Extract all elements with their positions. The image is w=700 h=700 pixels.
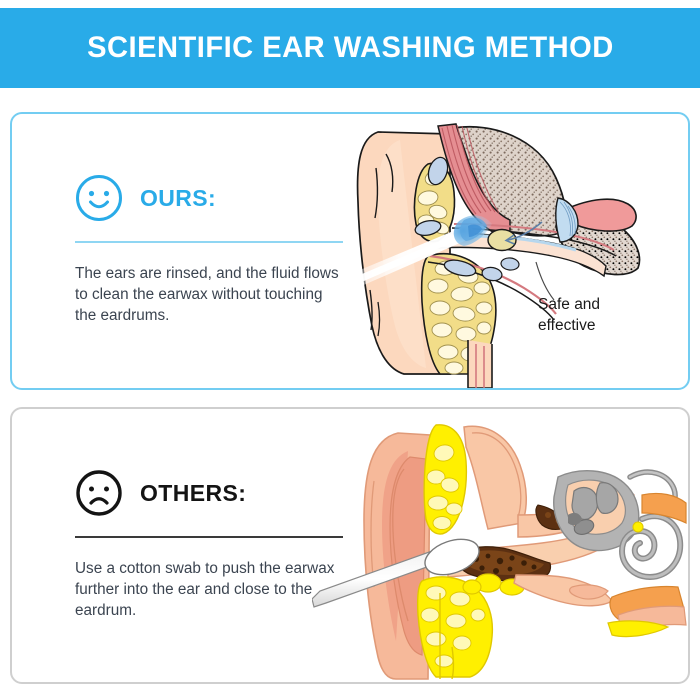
ours-divider	[75, 241, 343, 243]
others-divider	[75, 536, 343, 538]
smiley-face-icon	[75, 174, 123, 222]
others-text-column: OTHERS: Use a cotton swab to push the ea…	[75, 467, 347, 621]
card-ours: OURS: The ears are rinsed, and the fluid…	[10, 112, 690, 390]
ear-anatomy-cotton-swab-illustration	[312, 411, 688, 681]
ours-label: OURS:	[140, 185, 216, 212]
others-body-text: Use a cotton swab to push the earwax fur…	[75, 558, 343, 621]
ours-callout-text: Safe and effective	[538, 294, 638, 336]
ours-body-text: The ears are rinsed, and the fluid flows…	[75, 263, 343, 326]
header-banner: SCIENTIFIC EAR WASHING METHOD	[0, 8, 700, 88]
others-heading-row: OTHERS:	[75, 467, 347, 519]
ours-text-column: OURS: The ears are rinsed, and the fluid…	[75, 172, 347, 326]
infographic-page: SCIENTIFIC EAR WASHING METHOD OURS: The …	[0, 0, 700, 700]
ear-anatomy-water-irrigation-illustration: Safe and effective	[342, 116, 688, 388]
sad-face-icon	[75, 469, 123, 517]
page-title: SCIENTIFIC EAR WASHING METHOD	[87, 31, 614, 65]
ours-heading-row: OURS:	[75, 172, 347, 224]
card-others: OTHERS: Use a cotton swab to push the ea…	[10, 407, 690, 684]
others-label: OTHERS:	[140, 480, 246, 507]
